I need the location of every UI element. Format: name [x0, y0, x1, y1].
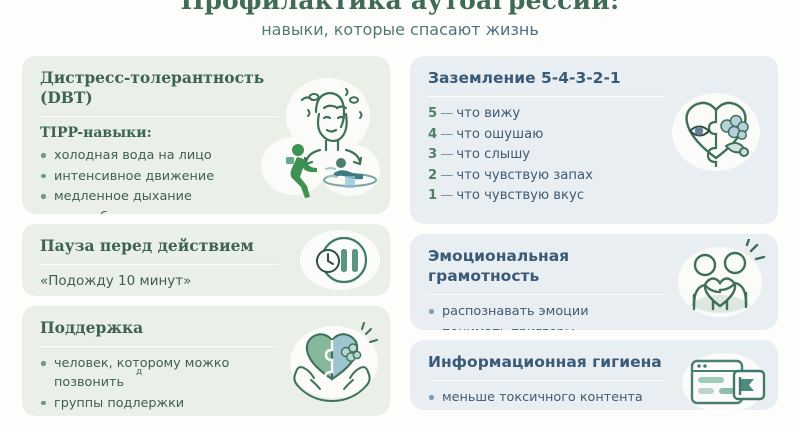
clock-pause-icon [296, 228, 380, 292]
page-header: Профилактика аутоагрессии: навыки, котор… [0, 0, 800, 40]
step-number: 4 [428, 127, 437, 142]
step-text: что чувствую запах [456, 168, 593, 183]
page-title: Профилактика аутоагрессии: [0, 0, 800, 16]
step-dash: — [437, 168, 456, 183]
list-item: расслабление мышц [40, 208, 374, 215]
right-column: Заземление 5-4-3-2-1 5—что вижу 4—что ош… [410, 56, 778, 420]
card-divider [428, 293, 666, 295]
card-divider [40, 115, 278, 117]
list-item: 1—что чувствую вкус [428, 186, 762, 207]
step-number: 1 [428, 188, 437, 203]
two-people-heart-icon [672, 239, 768, 325]
card-grounding-54321[interactable]: Заземление 5-4-3-2-1 5—что вижу 4—что ош… [410, 56, 778, 224]
heart-brain-senses-puzzle-icon [664, 86, 768, 180]
step-dash: — [437, 127, 456, 142]
card-emotional-literacy[interactable]: Эмоциональная грамотность распознавать э… [410, 234, 778, 330]
card-divider [40, 263, 278, 265]
step-text: что чувствую вкус [456, 188, 584, 203]
list-item: просить о помощи [40, 414, 374, 416]
left-column: Дистресс-толерантность (DBT) TIPP-навыки… [22, 56, 390, 426]
step-text: что слышу [456, 147, 530, 162]
step-number: 3 [428, 147, 437, 162]
card-divider [428, 379, 666, 381]
step-text: что вижу [456, 106, 520, 121]
card-divider [428, 95, 666, 97]
card-pause-before-action[interactable]: Пауза перед действием «Подожду 10 минут» [22, 224, 390, 296]
card-distress-tolerance[interactable]: Дистресс-толерантность (DBT) TIPP-навыки… [22, 56, 390, 214]
step-dash: — [437, 188, 456, 203]
hands-holding-heart-puzzle-icon [284, 322, 380, 408]
card-title: Заземление 5-4-3-2-1 [428, 68, 762, 88]
step-number: 5 [428, 106, 437, 121]
card-divider [40, 345, 278, 347]
browser-window-flag-icon [680, 349, 768, 410]
stray-glyph-artifact: д [136, 368, 142, 377]
step-number: 2 [428, 168, 437, 183]
stressed-person-running-swimming-icon [250, 70, 380, 200]
step-text: что ошушаю [456, 127, 543, 142]
step-dash: — [437, 147, 456, 162]
step-dash: — [437, 106, 456, 121]
page-subtitle: навыки, которые спасают жизнь [0, 20, 800, 40]
